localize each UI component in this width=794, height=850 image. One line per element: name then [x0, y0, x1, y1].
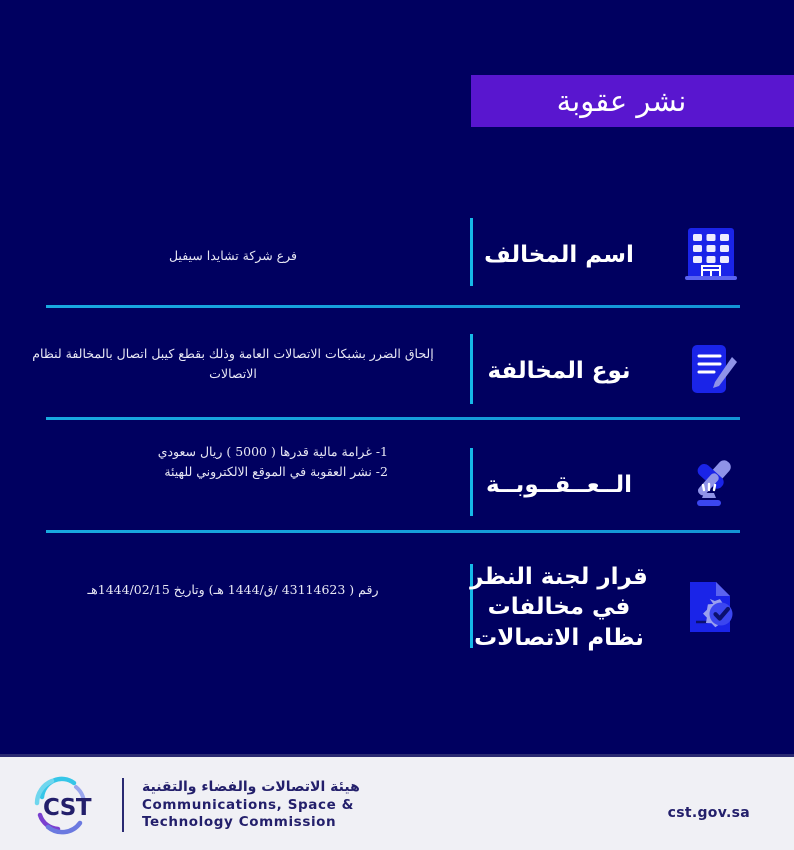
document-pen-icon — [678, 336, 744, 402]
row-label: قرار لجنة النظر في مخالفات نظام الاتصالا… — [464, 562, 654, 653]
footer-logo-block: CST هيئة الاتصالات والفضاء والتقنية Comm… — [32, 771, 360, 839]
gavel-icon — [678, 450, 744, 516]
row-violator-name: اسم المخالف فرع شركة تشايدا سيفيل — [0, 212, 794, 292]
footer: CST هيئة الاتصالات والفضاء والتقنية Comm… — [0, 754, 794, 850]
page-title: نشر عقوبة — [557, 87, 687, 116]
cst-logo-icon: CST — [32, 773, 106, 837]
penalty-publication-poster: نشر عقوبة اسم المخالف فرع ش — [0, 0, 794, 850]
row-value: رقم ( 43114623 /ق/1444 هـ) وتاريخ 1444/0… — [18, 580, 448, 600]
org-name-arabic: هيئة الاتصالات والفضاء والتقنية — [142, 778, 360, 797]
penalty-item: 1- غرامة مالية قدرها ( 5000 ) ريال سعودي — [18, 442, 388, 462]
row-label: نوع المخالفة — [464, 356, 654, 386]
penalty-item: 2- نشر العقوبة في الموقع الالكتروني للهي… — [18, 462, 388, 482]
header-banner: نشر عقوبة — [471, 75, 794, 127]
row-divider — [46, 417, 740, 420]
row-divider — [46, 305, 740, 308]
footer-website-url[interactable]: cst.gov.sa — [668, 805, 750, 821]
row-divider — [46, 530, 740, 533]
row-committee-decision: قرار لجنة النظر في مخالفات نظام الاتصالا… — [0, 552, 794, 662]
row-value: إلحاق الضرر بشبكات الاتصالات العامة وذلك… — [18, 344, 448, 384]
building-icon — [678, 220, 744, 286]
row-penalty: الــعــقــوبــة 1- غرامة مالية قدرها ( 5… — [0, 442, 794, 522]
organization-name: هيئة الاتصالات والفضاء والتقنية Communic… — [142, 778, 360, 832]
row-violation-type: نوع المخالفة إلحاق الضرر بشبكات الاتصالا… — [0, 330, 794, 410]
cst-logo-text: CST — [43, 795, 91, 821]
row-value: 1- غرامة مالية قدرها ( 5000 ) ريال سعودي… — [18, 442, 448, 482]
row-value: فرع شركة تشايدا سيفيل — [18, 246, 448, 266]
verified-document-icon — [678, 574, 744, 640]
row-label: اسم المخالف — [464, 240, 654, 270]
row-label: الــعــقــوبــة — [464, 470, 654, 500]
org-name-english-line1: Communications, Space & — [142, 797, 360, 815]
org-name-english-line2: Technology Commission — [142, 814, 360, 832]
logo-divider — [122, 778, 124, 832]
